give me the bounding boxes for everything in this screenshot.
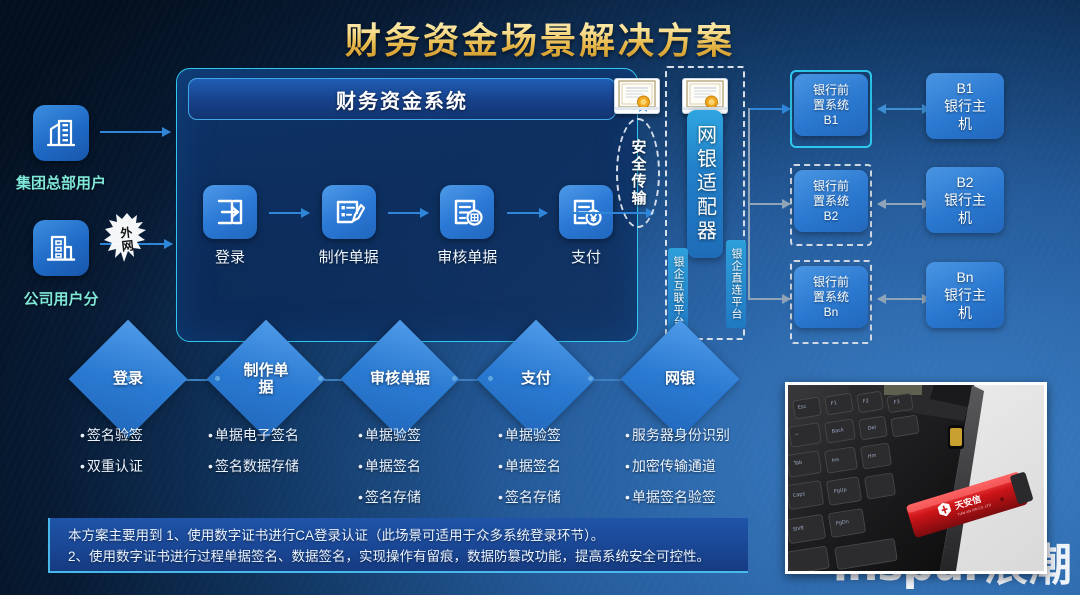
arrow-review-to-pay	[507, 212, 547, 214]
user-label-branch: 公司用户分	[0, 288, 136, 309]
bank-host-b1[interactable]: B1 银行主 机	[926, 73, 1004, 139]
bank-front-bn-line2: 置系统	[813, 290, 849, 305]
platform-label-direct: 银企直连平台	[726, 240, 746, 328]
bullet-review-1: 单据验签	[358, 428, 518, 442]
step-review-document[interactable]: 审核单据	[428, 185, 506, 267]
diamond-create-document-label: 制作单 据	[211, 362, 321, 397]
connector-dot-2	[215, 376, 220, 381]
bank-front-b1-line3: B1	[813, 113, 849, 128]
step-login-label: 登录	[215, 246, 245, 267]
login-arrow-icon	[203, 185, 257, 239]
bank-front-b2-line2: 置系统	[813, 194, 849, 209]
bank-host-bn-line2: 银行主	[944, 286, 986, 304]
step-login[interactable]: 登录	[191, 185, 269, 267]
arrow-hq-to-system	[100, 131, 170, 133]
bank-front-bn-line3: Bn	[813, 305, 849, 320]
branch-building-icon	[33, 220, 89, 276]
bullets-online-banking: 服务器身份识别 加密传输通道 单据签名验签	[625, 428, 785, 521]
connector-dot-1	[126, 376, 131, 381]
diamond-create-line2: 据	[211, 379, 321, 396]
document-edit-icon	[322, 185, 376, 239]
step-payment-label: 支付	[571, 246, 601, 267]
bank-host-bn-line3: 机	[944, 304, 986, 322]
connector-dot-4	[452, 376, 457, 381]
bank-trunk-line	[748, 108, 750, 300]
bank-host-b2-line3: 机	[944, 209, 986, 227]
diamond-online-banking-label: 网银	[625, 370, 735, 387]
bank-host-bn-line1: Bn	[944, 268, 986, 286]
step-review-document-label: 审核单据	[437, 246, 497, 267]
svg-text:F2: F2	[862, 398, 869, 405]
connector-dot-6	[588, 376, 593, 381]
secure-transfer-badge: 安全传输	[616, 118, 660, 228]
arrow-b1-front-to-host	[878, 108, 930, 110]
digital-certificate-icon-2	[682, 78, 728, 114]
bank-host-b2[interactable]: B2 银行主 机	[926, 167, 1004, 233]
bullets-create-document: 单据电子签名 签名数据存储	[208, 428, 368, 490]
bullet-review-2: 单据签名	[358, 459, 518, 473]
connector-dot-5	[488, 376, 493, 381]
bank-host-b1-line3: 机	[944, 115, 986, 133]
bank-host-b2-line1: B2	[944, 173, 986, 191]
arrow-bn-front-to-host	[878, 298, 930, 300]
secure-transfer-label: 安全传输	[628, 139, 649, 207]
diamond-create-line1: 制作单	[211, 362, 321, 379]
bullet-obank-2: 加密传输通道	[625, 459, 785, 473]
bullet-review-3: 签名存储	[358, 490, 518, 504]
svg-text:F3: F3	[893, 399, 900, 406]
bank-host-b1-line2: 银行主	[944, 97, 986, 115]
page-title: 财务资金场景解决方案	[0, 12, 1080, 64]
user-label-headquarters: 集团总部用户	[0, 172, 136, 193]
arrow-create-to-review	[388, 212, 428, 214]
system-flow-steps: 登录 制作单据	[191, 185, 625, 281]
external-network-label: 外网	[117, 227, 138, 254]
online-banking-adapter-label: 网银适配器	[691, 124, 720, 244]
system-title-bar: 财务资金系统	[188, 78, 616, 120]
caption-line-2: 2、使用数字证书进行过程单据签名、数据签名，实现操作有留痕，数据防篡改功能，提高…	[68, 547, 736, 568]
arrow-b2-front-to-host	[878, 203, 930, 205]
external-network-badge: 外网	[103, 212, 151, 268]
bullet-create-2: 签名数据存储	[208, 459, 368, 473]
summary-caption: 本方案主要用到 1、使用数字证书进行CA登录认证（此场景可适用于众多系统登录环节…	[48, 518, 748, 573]
bank-host-bn[interactable]: Bn 银行主 机	[926, 262, 1004, 328]
bullet-obank-3: 单据签名验签	[625, 490, 785, 504]
slide-canvas: inspur浪潮 财务资金场景解决方案 集团总部用户 公司用户分	[0, 0, 1080, 595]
svg-text:Ins: Ins	[831, 457, 839, 464]
bank-front-bn-line1: 银行前	[813, 275, 849, 290]
bank-host-b2-line2: 银行主	[944, 191, 986, 209]
bank-front-b1-line2: 置系统	[813, 98, 849, 113]
arrow-adapter-to-bn	[748, 298, 790, 300]
online-banking-adapter[interactable]: 网银适配器	[687, 110, 723, 258]
step-create-document-label: 制作单据	[319, 246, 379, 267]
bank-front-system-b2[interactable]: 银行前 置系统 B2	[794, 170, 868, 232]
diamond-review-document-label: 审核单据	[345, 370, 455, 387]
step-payment[interactable]: 支付	[547, 185, 625, 267]
bullet-create-1: 单据电子签名	[208, 428, 368, 442]
bullet-obank-1: 服务器身份识别	[625, 428, 785, 442]
connector-dot-3	[318, 376, 323, 381]
step-create-document[interactable]: 制作单据	[310, 185, 388, 267]
bank-host-b1-line1: B1	[944, 79, 986, 97]
bank-front-b1-line1: 银行前	[813, 83, 849, 98]
svg-text:F1: F1	[830, 400, 837, 407]
office-building-icon	[33, 105, 89, 161]
bank-front-system-b1[interactable]: 银行前 置系统 B1	[794, 74, 868, 136]
finance-system-panel: 财务资金系统 登录	[176, 68, 638, 342]
arrow-adapter-to-b1	[748, 108, 790, 110]
bullets-review-document: 单据验签 单据签名 签名存储	[358, 428, 518, 521]
bank-front-b2-line3: B2	[813, 209, 849, 224]
bank-front-b2-line1: 银行前	[813, 179, 849, 194]
document-stamp-icon	[440, 185, 494, 239]
arrow-adapter-to-b2	[748, 203, 790, 205]
diamond-payment-label: 支付	[481, 370, 591, 387]
digital-certificate-icon-1	[614, 78, 660, 114]
bank-front-system-bn[interactable]: 银行前 置系统 Bn	[794, 266, 868, 328]
usb-token-photo: Esc F1 F2 F3 ~ Back Del Tab Ins Hm Caps …	[785, 382, 1047, 574]
arrow-login-to-create	[269, 212, 309, 214]
caption-line-1: 本方案主要用到 1、使用数字证书进行CA登录认证（此场景可适用于众多系统登录环节…	[68, 526, 736, 547]
